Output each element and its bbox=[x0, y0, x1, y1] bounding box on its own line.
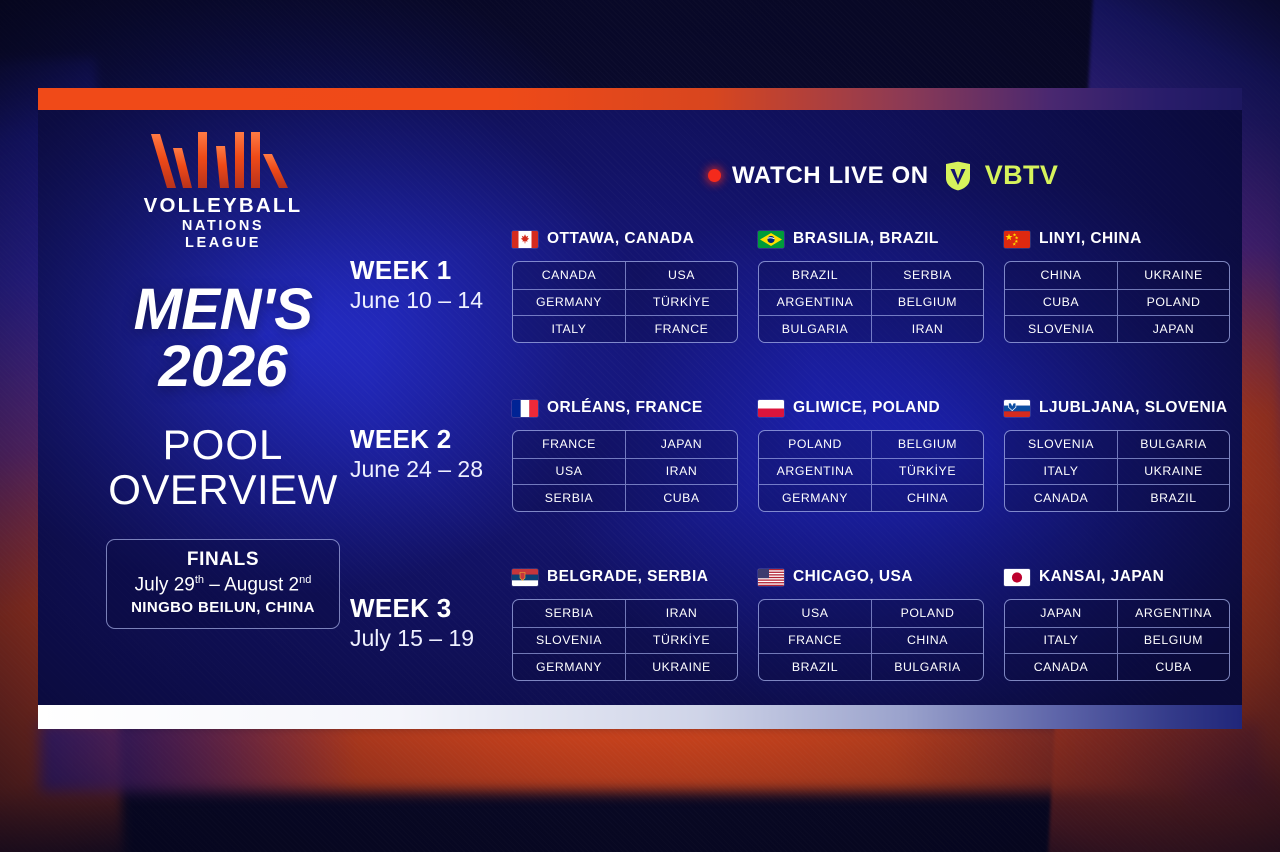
pool-card-linyi[interactable]: LINYI, CHINA CHINA UKRAINE CUBA POLAND S… bbox=[1004, 228, 1230, 343]
week-dates-1: June 10 – 14 bbox=[350, 287, 525, 315]
pool-header-orleans: ORLÉANS, FRANCE bbox=[512, 397, 738, 419]
pool-table-ljubljana: SLOVENIA BULGARIA ITALY UKRAINE CANADA B… bbox=[1004, 430, 1230, 512]
pool-header-chicago: CHICAGO, USA bbox=[758, 566, 984, 588]
pool-city-kansai: KANSAI, JAPAN bbox=[1039, 568, 1164, 586]
table-row: BRAZIL BULGARIA bbox=[759, 653, 983, 680]
table-row: USA IRAN bbox=[513, 458, 737, 485]
table-cell: USA bbox=[625, 262, 737, 289]
table-cell: BRAZIL bbox=[759, 654, 871, 680]
pool-header-brasilia: BRASILIA, BRAZIL bbox=[758, 228, 984, 250]
week-label-3: WEEK 3 July 15 – 19 bbox=[350, 594, 525, 652]
pool-city-ljubljana: LJUBLJANA, SLOVENIA bbox=[1039, 399, 1228, 417]
table-row: FRANCE JAPAN bbox=[513, 431, 737, 458]
pool-card-ljubljana[interactable]: LJUBLJANA, SLOVENIA SLOVENIA BULGARIA IT… bbox=[1004, 397, 1230, 512]
table-row: FRANCE CHINA bbox=[759, 627, 983, 654]
table-cell: IRAN bbox=[871, 316, 983, 342]
table-cell: GERMANY bbox=[513, 654, 625, 680]
table-row: SLOVENIA JAPAN bbox=[1005, 315, 1229, 342]
watch-live-label: WATCH LIVE ON bbox=[732, 162, 929, 190]
vnl-logo-word-line1: VOLLEYBALL bbox=[143, 194, 303, 218]
table-cell: SLOVENIA bbox=[1005, 431, 1117, 458]
pool-card-belgrade[interactable]: BELGRADE, SERBIA SERBIA IRAN SLOVENIA TÜ… bbox=[512, 566, 738, 681]
pool-card-brasilia[interactable]: BRASILIA, BRAZIL BRAZIL SERBIA ARGENTINA… bbox=[758, 228, 984, 343]
top-accent-bar bbox=[38, 88, 1242, 110]
table-row: ITALY BELGIUM bbox=[1005, 627, 1229, 654]
flag-china-icon bbox=[1004, 231, 1030, 248]
flag-brazil-icon bbox=[758, 231, 784, 248]
table-row: CANADA USA bbox=[513, 262, 737, 289]
week-name-2: WEEK 2 bbox=[350, 425, 525, 454]
table-cell: USA bbox=[759, 600, 871, 627]
table-cell: IRAN bbox=[625, 459, 737, 485]
pool-card-chicago[interactable]: CHICAGO, USA USA POLAND FRANCE CHINA BRA… bbox=[758, 566, 984, 681]
table-row: CANADA BRAZIL bbox=[1005, 484, 1229, 511]
pool-group-1: OTTAWA, CANADA CANADA USA GERMANY TÜRKİY… bbox=[512, 228, 1230, 343]
pool-table-kansai: JAPAN ARGENTINA ITALY BELGIUM CANADA CUB… bbox=[1004, 599, 1230, 681]
pool-city-belgrade: BELGRADE, SERBIA bbox=[547, 568, 708, 586]
flag-slovenia-icon bbox=[1004, 400, 1030, 417]
table-cell: BELGIUM bbox=[1117, 628, 1229, 654]
table-row: POLAND BELGIUM bbox=[759, 431, 983, 458]
table-row: USA POLAND bbox=[759, 600, 983, 627]
flag-usa-icon bbox=[758, 569, 784, 586]
table-row: ARGENTINA TÜRKİYE bbox=[759, 458, 983, 485]
table-cell: CANADA bbox=[513, 262, 625, 289]
week-dates-2: June 24 – 28 bbox=[350, 456, 525, 484]
finals-venue: NINGBO BEILUN, CHINA bbox=[115, 598, 331, 618]
pool-city-orleans: ORLÉANS, FRANCE bbox=[547, 399, 703, 417]
pool-card-gliwice[interactable]: GLIWICE, POLAND POLAND BELGIUM ARGENTINA… bbox=[758, 397, 984, 512]
pool-table-belgrade: SERBIA IRAN SLOVENIA TÜRKİYE GERMANY UKR… bbox=[512, 599, 738, 681]
finals-dates: July 29th – August 2nd bbox=[115, 573, 331, 598]
table-cell: SERBIA bbox=[513, 600, 625, 627]
background-swoosh-bottom bbox=[40, 722, 1260, 792]
table-cell: POLAND bbox=[759, 431, 871, 458]
table-row: CANADA CUBA bbox=[1005, 653, 1229, 680]
table-cell: ARGENTINA bbox=[759, 290, 871, 316]
pool-table-ottawa: CANADA USA GERMANY TÜRKİYE ITALY FRANCE bbox=[512, 261, 738, 343]
pool-table-gliwice: POLAND BELGIUM ARGENTINA TÜRKİYE GERMANY… bbox=[758, 430, 984, 512]
finals-date-start: July 29 bbox=[135, 574, 195, 595]
table-cell: USA bbox=[513, 459, 625, 485]
table-cell: BULGARIA bbox=[871, 654, 983, 680]
pool-table-brasilia: BRAZIL SERBIA ARGENTINA BELGIUM BULGARIA… bbox=[758, 261, 984, 343]
table-cell: BULGARIA bbox=[1117, 431, 1229, 458]
table-cell: CANADA bbox=[1005, 485, 1117, 511]
table-cell: BULGARIA bbox=[759, 316, 871, 342]
title-line-year: 2026 bbox=[78, 338, 368, 396]
table-cell: BRAZIL bbox=[759, 262, 871, 289]
vnl-logo: VOLLEYBALL NATIONS LEAGUE bbox=[143, 130, 303, 252]
pool-card-orleans[interactable]: ORLÉANS, FRANCE FRANCE JAPAN USA IRAN SE… bbox=[512, 397, 738, 512]
table-cell: UKRAINE bbox=[1117, 459, 1229, 485]
table-cell: FRANCE bbox=[513, 431, 625, 458]
pool-header-kansai: KANSAI, JAPAN bbox=[1004, 566, 1230, 588]
pool-table-linyi: CHINA UKRAINE CUBA POLAND SLOVENIA JAPAN bbox=[1004, 261, 1230, 343]
week-label-2: WEEK 2 June 24 – 28 bbox=[350, 425, 525, 483]
poster-canvas: VOLLEYBALL NATIONS LEAGUE MEN'S 2026 POO… bbox=[0, 0, 1280, 852]
table-cell: CUBA bbox=[1005, 290, 1117, 316]
title-column: VOLLEYBALL NATIONS LEAGUE MEN'S 2026 POO… bbox=[78, 130, 368, 629]
table-row: GERMANY TÜRKİYE bbox=[513, 289, 737, 316]
vnl-logo-word-line2: NATIONS LEAGUE bbox=[143, 218, 303, 253]
table-cell: GERMANY bbox=[513, 290, 625, 316]
table-row: SLOVENIA BULGARIA bbox=[1005, 431, 1229, 458]
pool-city-brasilia: BRASILIA, BRAZIL bbox=[793, 230, 939, 248]
table-cell: FRANCE bbox=[625, 316, 737, 342]
pool-table-orleans: FRANCE JAPAN USA IRAN SERBIA CUBA bbox=[512, 430, 738, 512]
table-cell: CUBA bbox=[1117, 654, 1229, 680]
table-row: GERMANY CHINA bbox=[759, 484, 983, 511]
table-cell: ITALY bbox=[1005, 459, 1117, 485]
table-cell: CUBA bbox=[625, 485, 737, 511]
table-row: SLOVENIA TÜRKİYE bbox=[513, 627, 737, 654]
table-row: SERBIA CUBA bbox=[513, 484, 737, 511]
table-row: ITALY FRANCE bbox=[513, 315, 737, 342]
table-row: JAPAN ARGENTINA bbox=[1005, 600, 1229, 627]
table-cell: ARGENTINA bbox=[1117, 600, 1229, 627]
vbtv-label: VBTV bbox=[985, 160, 1059, 191]
week-label-1: WEEK 1 June 10 – 14 bbox=[350, 256, 525, 314]
table-cell: FRANCE bbox=[759, 628, 871, 654]
table-row: ITALY UKRAINE bbox=[1005, 458, 1229, 485]
pool-card-kansai[interactable]: KANSAI, JAPAN JAPAN ARGENTINA ITALY BELG… bbox=[1004, 566, 1230, 681]
pool-card-ottawa[interactable]: OTTAWA, CANADA CANADA USA GERMANY TÜRKİY… bbox=[512, 228, 738, 343]
table-cell: IRAN bbox=[625, 600, 737, 627]
pool-table-chicago: USA POLAND FRANCE CHINA BRAZIL BULGARIA bbox=[758, 599, 984, 681]
flag-poland-icon bbox=[758, 400, 784, 417]
pool-header-ljubljana: LJUBLJANA, SLOVENIA bbox=[1004, 397, 1230, 419]
table-row: CUBA POLAND bbox=[1005, 289, 1229, 316]
flag-canada-icon bbox=[512, 231, 538, 248]
table-cell: UKRAINE bbox=[1117, 262, 1229, 289]
table-row: BULGARIA IRAN bbox=[759, 315, 983, 342]
live-dot-icon bbox=[708, 169, 721, 182]
table-cell: TÜRKİYE bbox=[625, 628, 737, 654]
table-row: SERBIA IRAN bbox=[513, 600, 737, 627]
table-cell: JAPAN bbox=[1117, 316, 1229, 342]
table-cell: GERMANY bbox=[759, 485, 871, 511]
table-cell: CHINA bbox=[871, 485, 983, 511]
table-cell: ITALY bbox=[513, 316, 625, 342]
finals-date-sep: – August 2 bbox=[204, 574, 299, 595]
table-row: GERMANY UKRAINE bbox=[513, 653, 737, 680]
bottom-accent-bar bbox=[38, 705, 1242, 729]
table-row: CHINA UKRAINE bbox=[1005, 262, 1229, 289]
table-cell: ITALY bbox=[1005, 628, 1117, 654]
table-cell: BRAZIL bbox=[1117, 485, 1229, 511]
table-cell: SERBIA bbox=[871, 262, 983, 289]
table-cell: SERBIA bbox=[513, 485, 625, 511]
table-cell: CHINA bbox=[871, 628, 983, 654]
title-line-overview: OVERVIEW bbox=[78, 467, 368, 512]
table-cell: SLOVENIA bbox=[1005, 316, 1117, 342]
finals-date-start-sup: th bbox=[195, 574, 204, 586]
week-dates-3: July 15 – 19 bbox=[350, 625, 525, 653]
vnl-monogram-icon bbox=[143, 130, 303, 192]
table-cell: JAPAN bbox=[625, 431, 737, 458]
pool-header-linyi: LINYI, CHINA bbox=[1004, 228, 1230, 250]
pool-header-ottawa: OTTAWA, CANADA bbox=[512, 228, 738, 250]
finals-date-end-sup: nd bbox=[299, 574, 311, 586]
title-line-mens: MEN'S bbox=[78, 282, 368, 338]
table-cell: BELGIUM bbox=[871, 290, 983, 316]
table-cell: SLOVENIA bbox=[513, 628, 625, 654]
pool-group-3: BELGRADE, SERBIA SERBIA IRAN SLOVENIA TÜ… bbox=[512, 566, 1230, 681]
flag-japan-icon bbox=[1004, 569, 1030, 586]
flag-france-icon bbox=[512, 400, 538, 417]
pool-city-ottawa: OTTAWA, CANADA bbox=[547, 230, 694, 248]
week-name-1: WEEK 1 bbox=[350, 256, 525, 285]
pool-city-gliwice: GLIWICE, POLAND bbox=[793, 399, 940, 417]
finals-label: FINALS bbox=[115, 549, 331, 572]
vbtv-shield-icon bbox=[944, 161, 972, 191]
table-row: BRAZIL SERBIA bbox=[759, 262, 983, 289]
pool-header-belgrade: BELGRADE, SERBIA bbox=[512, 566, 738, 588]
table-cell: POLAND bbox=[871, 600, 983, 627]
week-name-3: WEEK 3 bbox=[350, 594, 525, 623]
title-line-pool: POOL bbox=[78, 422, 368, 467]
flag-serbia-icon bbox=[512, 569, 538, 586]
pool-header-gliwice: GLIWICE, POLAND bbox=[758, 397, 984, 419]
table-cell: CHINA bbox=[1005, 262, 1117, 289]
table-cell: UKRAINE bbox=[625, 654, 737, 680]
pool-city-chicago: CHICAGO, USA bbox=[793, 568, 913, 586]
table-cell: TÜRKİYE bbox=[625, 290, 737, 316]
finals-box: FINALS July 29th – August 2nd NINGBO BEI… bbox=[106, 539, 340, 629]
table-row: ARGENTINA BELGIUM bbox=[759, 289, 983, 316]
table-cell: JAPAN bbox=[1005, 600, 1117, 627]
table-cell: ARGENTINA bbox=[759, 459, 871, 485]
table-cell: CANADA bbox=[1005, 654, 1117, 680]
table-cell: TÜRKİYE bbox=[871, 459, 983, 485]
watch-live-banner: WATCH LIVE ON VBTV bbox=[708, 160, 1058, 191]
table-cell: BELGIUM bbox=[871, 431, 983, 458]
content-card: VOLLEYBALL NATIONS LEAGUE MEN'S 2026 POO… bbox=[38, 88, 1242, 722]
pool-group-2: ORLÉANS, FRANCE FRANCE JAPAN USA IRAN SE… bbox=[512, 397, 1230, 512]
pool-city-linyi: LINYI, CHINA bbox=[1039, 230, 1142, 248]
table-cell: POLAND bbox=[1117, 290, 1229, 316]
